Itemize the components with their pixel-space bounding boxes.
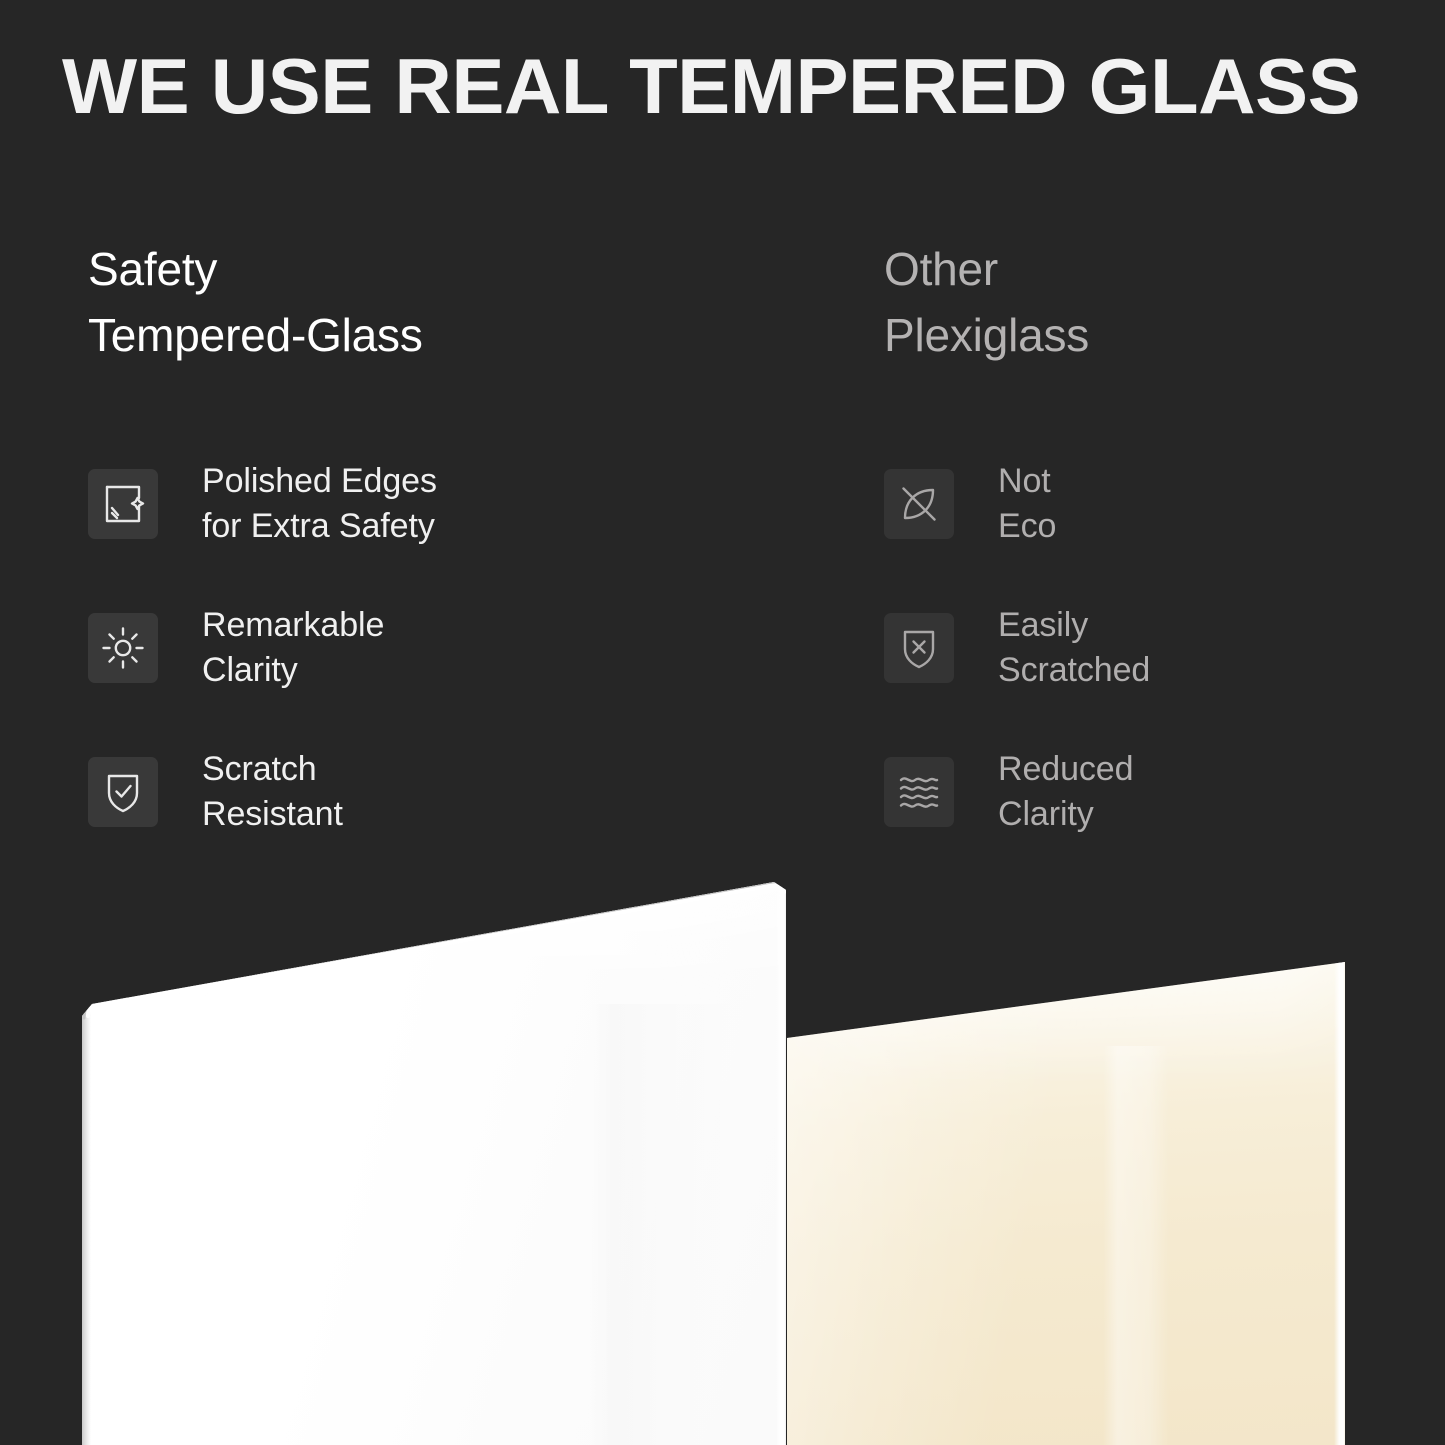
feature-item: Scratch Resistant [88, 743, 788, 841]
column-tempered-glass: Safety Tempered-Glass Polished Edges for… [88, 236, 788, 368]
shield-x-icon [884, 613, 954, 683]
feature-list-left: Polished Edges for Extra Safety [88, 455, 788, 841]
plexi-reflection-band [1103, 1046, 1169, 1445]
sun-clarity-icon [88, 613, 158, 683]
glass-top-bevel [80, 856, 790, 1032]
plexiglass-sheet [787, 896, 1347, 1445]
feature-item: Easily Scratched [884, 599, 1424, 697]
infographic-canvas: WE USE REAL TEMPERED GLASS Safety Temper… [0, 0, 1445, 1445]
plexi-top-highlight [787, 896, 1347, 1086]
shield-check-icon [88, 757, 158, 827]
feature-label: Polished Edges for Extra Safety [202, 459, 437, 549]
leaf-crossed-out-icon [884, 469, 954, 539]
feature-label: Reduced Clarity [998, 747, 1133, 837]
polished-glass-pane-sparkle-icon [88, 469, 158, 539]
wavy-lines-icon [884, 757, 954, 827]
column-heading-left: Safety Tempered-Glass [88, 236, 788, 368]
glass-left-bevel [80, 1006, 91, 1445]
feature-item: Not Eco [884, 455, 1424, 553]
plexi-edge-highlight [1334, 960, 1347, 1445]
column-plexiglass: Other Plexiglass Not Eco [884, 236, 1424, 368]
feature-item: Remarkable Clarity [88, 599, 788, 697]
feature-item: Polished Edges for Extra Safety [88, 455, 788, 553]
tempered-glass-sheet [80, 856, 790, 1445]
feature-label: Remarkable Clarity [202, 603, 384, 693]
glass-reflection-band [590, 1004, 750, 1445]
product-photo-glass-panels [0, 836, 1445, 1445]
feature-label: Easily Scratched [998, 603, 1150, 693]
feature-label: Not Eco [998, 459, 1056, 549]
column-heading-right: Other Plexiglass [884, 236, 1424, 368]
feature-item: Reduced Clarity [884, 743, 1424, 841]
feature-list-right: Not Eco Easily Scratched [884, 455, 1424, 841]
page-title: WE USE REAL TEMPERED GLASS [62, 42, 1419, 130]
glass-top-highlight [80, 856, 790, 1006]
feature-label: Scratch Resistant [202, 747, 343, 837]
